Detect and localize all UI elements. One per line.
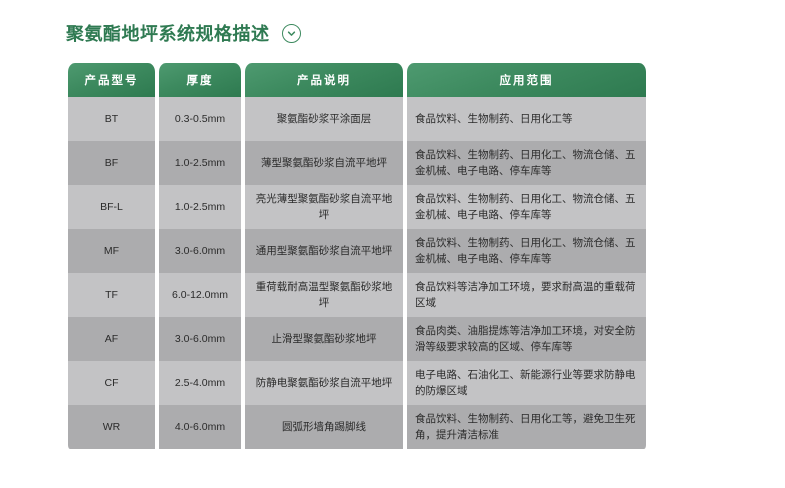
- chevron-down-circle-icon[interactable]: [282, 24, 301, 43]
- cell-application: 食品饮料、生物制药、日用化工、物流仓储、五金机械、电子电路、停车库等: [405, 185, 648, 229]
- cell-thickness: 4.0-6.0mm: [157, 405, 243, 449]
- table-row: CF 2.5-4.0mm 防静电聚氨酯砂浆自流平地坪 电子电路、石油化工、新能源…: [66, 361, 648, 405]
- cell-thickness: 1.0-2.5mm: [157, 185, 243, 229]
- cell-model: BT: [66, 97, 157, 141]
- cell-thickness: 1.0-2.5mm: [157, 141, 243, 185]
- cell-model: BF: [66, 141, 157, 185]
- table-row: WR 4.0-6.0mm 圆弧形墙角踢脚线 食品饮料、生物制药、日用化工等，避免…: [66, 405, 648, 449]
- cell-application: 食品饮料、生物制药、日用化工等，避免卫生死角，提升清洁标准: [405, 405, 648, 449]
- table-row: AF 3.0-6.0mm 止滑型聚氨酯砂浆地坪 食品肉类、油脂提炼等洁净加工环境…: [66, 317, 648, 361]
- section-header: 聚氨酯地坪系统规格描述: [66, 24, 301, 43]
- cell-application: 电子电路、石油化工、新能源行业等要求防静电的防爆区域: [405, 361, 648, 405]
- column-header-thickness: 厚度: [157, 63, 243, 97]
- cell-model: BF-L: [66, 185, 157, 229]
- page-title: 聚氨酯地坪系统规格描述: [66, 25, 270, 43]
- column-header-model: 产品型号: [66, 63, 157, 97]
- cell-description: 防静电聚氨酯砂浆自流平地坪: [243, 361, 405, 405]
- cell-application: 食品饮料、生物制药、日用化工等: [405, 97, 648, 141]
- table-row: MF 3.0-6.0mm 通用型聚氨酯砂浆自流平地坪 食品饮料、生物制药、日用化…: [66, 229, 648, 273]
- cell-model: CF: [66, 361, 157, 405]
- cell-application: 食品肉类、油脂提炼等洁净加工环境，对安全防滑等级要求较高的区域、停车库等: [405, 317, 648, 361]
- column-header-description: 产品说明: [243, 63, 405, 97]
- table-row: TF 6.0-12.0mm 重荷载耐高温型聚氨酯砂浆地坪 食品饮料等洁净加工环境…: [66, 273, 648, 317]
- cell-description: 通用型聚氨酯砂浆自流平地坪: [243, 229, 405, 273]
- cell-application: 食品饮料、生物制药、日用化工、物流仓储、五金机械、电子电路、停车库等: [405, 229, 648, 273]
- cell-description: 聚氨酯砂浆平涂面层: [243, 97, 405, 141]
- column-header-application: 应用范围: [405, 63, 648, 97]
- table-header: 产品型号 厚度 产品说明 应用范围: [66, 63, 648, 97]
- cell-description: 止滑型聚氨酯砂浆地坪: [243, 317, 405, 361]
- table-row: BT 0.3-0.5mm 聚氨酯砂浆平涂面层 食品饮料、生物制药、日用化工等: [66, 97, 648, 141]
- cell-thickness: 3.0-6.0mm: [157, 229, 243, 273]
- table-body: BT 0.3-0.5mm 聚氨酯砂浆平涂面层 食品饮料、生物制药、日用化工等 B…: [66, 97, 648, 449]
- cell-model: TF: [66, 273, 157, 317]
- cell-model: WR: [66, 405, 157, 449]
- cell-description: 圆弧形墙角踢脚线: [243, 405, 405, 449]
- table-row: BF-L 1.0-2.5mm 亮光薄型聚氨酯砂浆自流平地坪 食品饮料、生物制药、…: [66, 185, 648, 229]
- cell-description: 薄型聚氨酯砂浆自流平地坪: [243, 141, 405, 185]
- cell-model: MF: [66, 229, 157, 273]
- cell-application: 食品饮料等洁净加工环境，要求耐高温的重载荷区域: [405, 273, 648, 317]
- cell-thickness: 3.0-6.0mm: [157, 317, 243, 361]
- cell-thickness: 0.3-0.5mm: [157, 97, 243, 141]
- cell-application: 食品饮料、生物制药、日用化工、物流仓储、五金机械、电子电路、停车库等: [405, 141, 648, 185]
- cell-description: 亮光薄型聚氨酯砂浆自流平地坪: [243, 185, 405, 229]
- spec-page: 聚氨酯地坪系统规格描述 产品型号 厚度 产品说明 应用范围 BT 0.3-0.5…: [0, 0, 785, 488]
- spec-table: 产品型号 厚度 产品说明 应用范围 BT 0.3-0.5mm 聚氨酯砂浆平涂面层…: [66, 63, 648, 449]
- cell-thickness: 2.5-4.0mm: [157, 361, 243, 405]
- cell-description: 重荷载耐高温型聚氨酯砂浆地坪: [243, 273, 405, 317]
- cell-thickness: 6.0-12.0mm: [157, 273, 243, 317]
- table-header-row: 产品型号 厚度 产品说明 应用范围: [66, 63, 648, 97]
- table-row: BF 1.0-2.5mm 薄型聚氨酯砂浆自流平地坪 食品饮料、生物制药、日用化工…: [66, 141, 648, 185]
- cell-model: AF: [66, 317, 157, 361]
